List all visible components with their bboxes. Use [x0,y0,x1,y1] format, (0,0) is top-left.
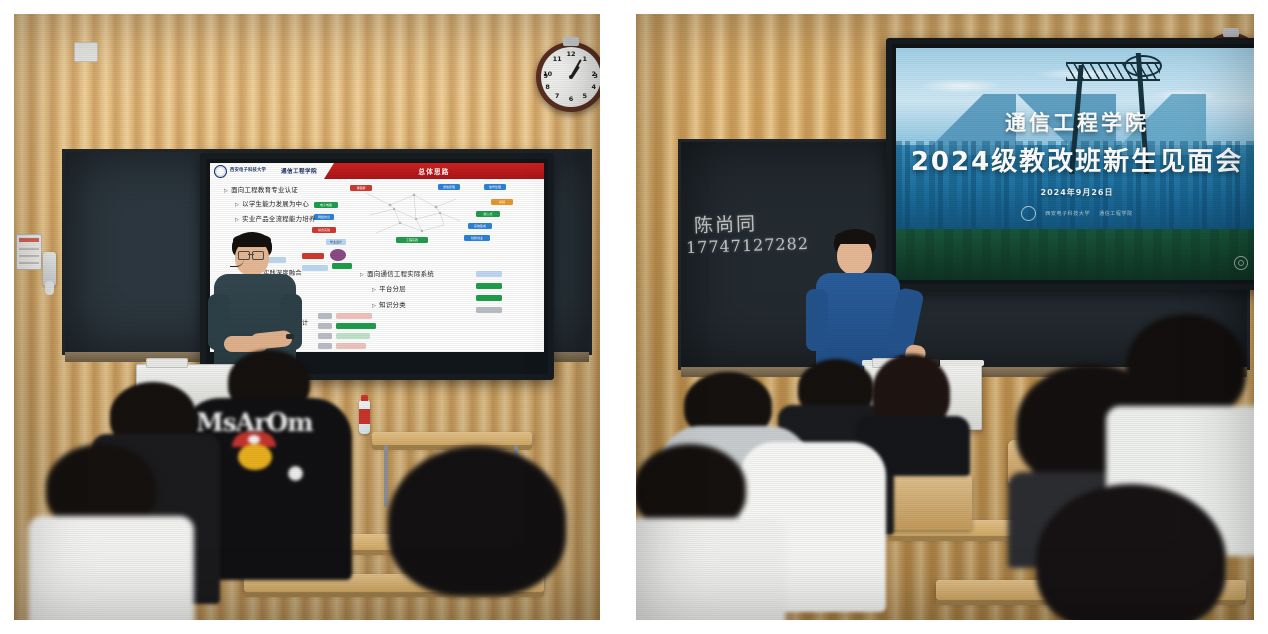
diagram-node-lower [330,249,346,261]
university-logo: 西安电子科技大学 通信工程学院 [210,163,324,179]
clock-face: 12 1 2 3 4 5 6 7 8 9 10 11 [541,47,600,107]
clock-hook [1223,28,1239,37]
diagram-node: 嵌入式 [476,211,500,217]
diagram-node: 射频 [491,199,513,205]
slide-bullet: 知识分类 [372,302,490,309]
tee-badge [288,466,303,481]
clock-number: 4 [589,84,599,91]
panel-row [19,248,39,250]
slide-bullet: 实业产品全流程能力培养 [235,216,364,223]
clock-number: 3 [591,73,600,80]
lens-right [252,251,264,260]
diagram-node: 系统集成 [468,223,492,229]
diagram-node: 创新创业 [464,235,490,241]
arm-left [806,289,828,351]
student-desk [372,432,532,445]
slide-title-banner: 总体思路 [324,163,544,179]
clock-hook [563,37,579,46]
university-name: 西安电子科技大学 [230,168,266,173]
slide-header: 西安电子科技大学 通信工程学院 总体思路 [210,163,544,179]
water-bottle [359,400,370,434]
right-photo: 12 1 2 3 4 5 6 7 8 9 10 11 陈尚同 177471272… [636,14,1254,620]
footer-logo-text: 西安电子科技大学 [1045,210,1090,217]
hair-front [835,231,875,244]
title-slide-surface: 通信工程学院 2024级教改班新生见面会 2024年9月26日 西安电子科技大学… [896,48,1254,280]
diagram-node: 信号处理 [484,184,506,190]
student-chair [886,474,972,530]
clock-number: 11 [552,56,562,63]
university-seal-icon [214,165,227,178]
wall-clock: 12 1 2 3 4 5 6 7 8 9 10 11 [536,42,600,112]
student-person [374,446,574,620]
slide-bullet-list: 面向工程教育专业认证 以学生能力发展为中心 实业产品全流程能力培养 [224,187,364,230]
hair [388,446,566,596]
slide-line-1: 通信工程学院 [1005,107,1149,137]
diagram-node: 毕业设计 [326,239,346,245]
panel-row [19,255,39,257]
left-photo: 12 1 2 3 4 5 6 7 8 9 10 11 [14,14,600,620]
clock-number: 5 [580,93,590,100]
chalkboard-name-text: 陈尚同 [694,209,758,238]
student-person [36,444,186,620]
watermark-icon [1234,256,1248,270]
slide-bullet: 面向工程教育专业认证 [224,187,364,194]
display-brand-strip [892,278,1254,282]
student-person [1016,484,1254,620]
footer-logo-text: 通信工程学院 [1099,210,1133,217]
clock-number: 8 [543,84,553,91]
slide-bullet: 以学生能力发展为中心 [235,201,364,208]
diagram-row-node [336,343,366,349]
wall-intercom-phone[interactable] [43,252,56,286]
control-panel[interactable] [16,234,42,270]
slide-bullet: 面向通信工程实际系统 [360,271,490,278]
student-person [636,444,778,620]
slide-bullet: 平台分层 [372,286,490,293]
hair [1126,314,1246,418]
panel-row [19,262,39,264]
diagram-node-lower [332,263,352,269]
slide-line-2: 2024级教改班新生见面会 [911,141,1243,178]
slide-footer-logos: 西安电子科技大学 通信工程学院 [1021,206,1132,221]
presentation-display[interactable]: 通信工程学院 2024级教改班新生见面会 2024年9月26日 西安电子科技大学… [886,38,1254,290]
clock-number: 6 [566,96,576,103]
clock-hub [569,75,573,79]
title-block: 通信工程学院 2024级教改班新生见面会 2024年9月26日 西安电子科技大学… [896,48,1254,280]
slide-date: 2024年9月26日 [1041,187,1114,198]
network-diagram [356,185,466,243]
slide-bullet-list-right: 面向通信工程实际系统 平台分层 知识分类 [360,271,490,317]
torso-white [636,518,786,620]
clock-number: 7 [552,93,562,100]
wall-speaker [74,42,98,62]
bottle-label [359,409,370,424]
clock-number: 10 [543,71,553,78]
clock-number: 12 [566,51,576,58]
wrist-watch [286,334,294,339]
university-seal-icon [1021,206,1036,221]
hair-front [233,234,271,247]
torso-white [28,516,194,620]
school-name: 通信工程学院 [281,167,317,175]
slide-title-text: 总体思路 [418,166,449,176]
bottle-cap [361,395,368,401]
hair [1036,484,1226,620]
photo-collage: 12 1 2 3 4 5 6 7 8 9 10 11 [0,0,1268,634]
tee-character-graphic [238,444,272,470]
panel-stripe [19,238,39,242]
